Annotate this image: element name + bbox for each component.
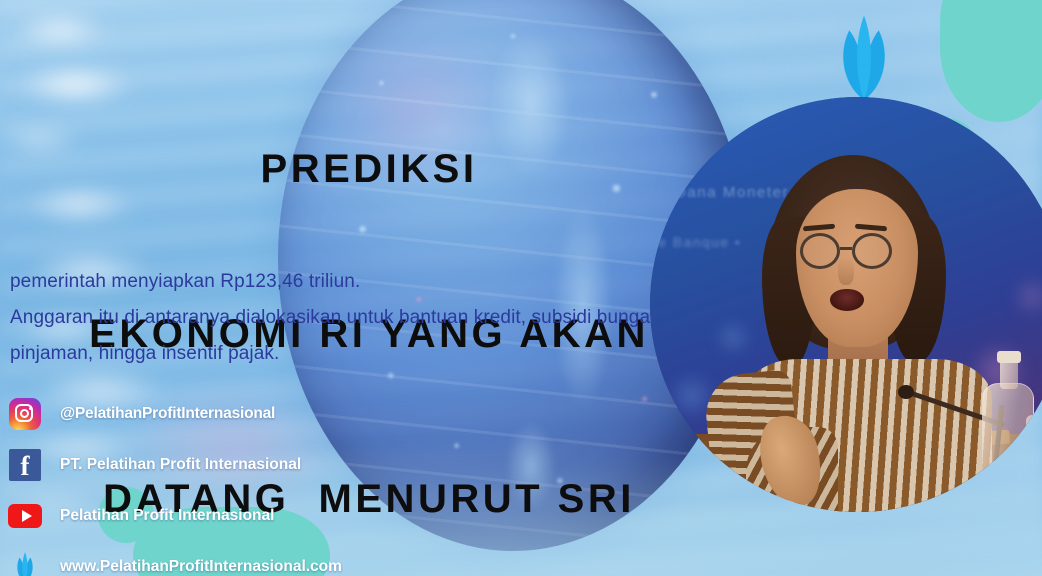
title-line-1: PREDIKSI [24,142,714,197]
social-row-youtube[interactable]: Pelatihan Profit Internasional [8,494,568,538]
instagram-icon-lens [20,409,29,418]
youtube-icon[interactable] [8,499,42,533]
portrait-eyeglass-right [852,233,892,269]
portrait-mouth [830,289,864,311]
social-label-facebook: PT. Pelatihan Profit Internasional [60,456,301,474]
social-label-website: www.PelatihanProfitInternasional.com [60,558,342,576]
water-bottle-neck [1000,359,1018,389]
youtube-icon-play-triangle [22,510,32,522]
social-label-youtube: Pelatihan Profit Internasional [60,507,274,525]
youtube-icon-background [8,504,42,528]
instagram-icon[interactable] [8,397,42,431]
poster-body-text: pemerintah menyiapkan Rp123,46 triliun. … [10,264,690,372]
body-line-2: Anggaran itu di antaranya dialokasikan u… [10,300,690,336]
social-row-website[interactable]: www.PelatihanProfitInternasional.com [8,545,568,576]
body-line-3: pinjaman, hingga insentif pajak. [10,336,690,372]
instagram-icon-dot [29,407,32,410]
facebook-icon-letter: f [21,451,30,481]
body-line-1: pemerintah menyiapkan Rp123,46 triliun. [10,264,690,300]
social-row-instagram[interactable]: @PelatihanProfitInternasional [8,392,568,436]
portrait-eyeglass-left [800,233,840,269]
drinking-glass [1026,415,1042,511]
facebook-icon-background: f [9,449,41,481]
lotus-icon [817,10,911,102]
social-row-facebook[interactable]: f PT. Pelatihan Profit Internasional [8,443,568,487]
social-links-list: @PelatihanProfitInternasional f PT. Pela… [8,392,568,576]
social-label-instagram: @PelatihanProfitInternasional [60,405,275,423]
lotus-icon[interactable] [8,550,42,576]
microphone-head-icon [898,385,914,399]
poster-canvas: Dana Moneter Internasional e Banque • [0,0,1042,576]
facebook-icon[interactable]: f [8,448,42,482]
water-bottle-cap [997,351,1021,363]
portrait-nose [838,257,854,285]
portrait-eyeglass-bridge [840,247,852,250]
